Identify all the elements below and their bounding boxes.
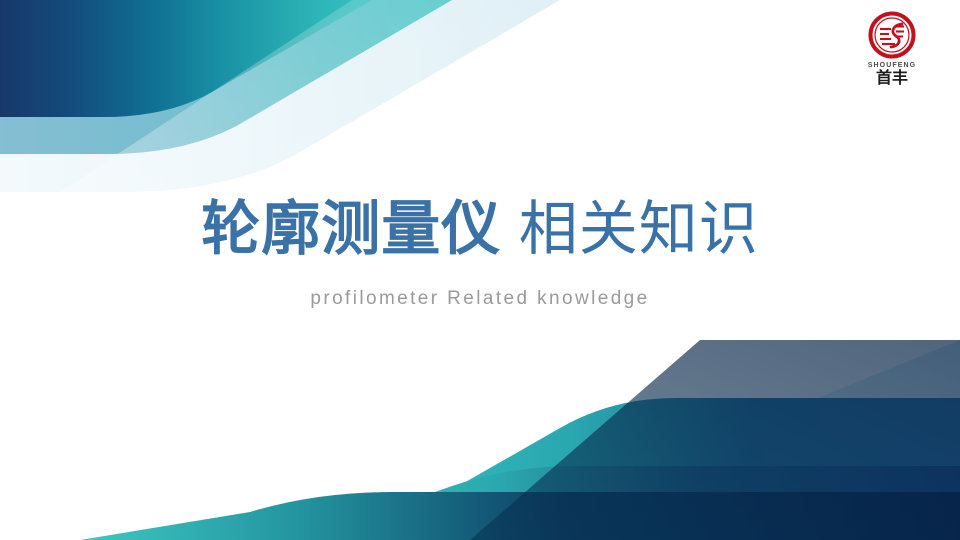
- top-diagonal-sheen: [60, 0, 560, 192]
- logo-latin-text: SHOUFENG: [846, 61, 938, 70]
- logo-chinese-text: 首丰: [846, 70, 938, 88]
- top-band-main: [0, 0, 372, 117]
- bottom-decoration-graphic: [0, 340, 960, 540]
- title-slide: SHOUFENG 首丰 轮廓测量仪 相关知识 profilometer Rela…: [0, 0, 960, 540]
- top-band-light: [0, 0, 452, 154]
- top-band-pale-sweep: [0, 0, 560, 192]
- bottom-band-deep: [80, 492, 960, 540]
- page-subtitle: profilometer Related knowledge: [0, 288, 960, 310]
- title-strong-part: 轮廓测量仪: [201, 196, 501, 262]
- page-title: 轮廓测量仪 相关知识: [0, 196, 960, 262]
- bottom-band-pale: [470, 340, 960, 540]
- title-light-part: 相关知识: [519, 196, 759, 262]
- bottom-band-mid: [364, 368, 960, 540]
- bottom-band-low: [300, 452, 960, 540]
- bottom-diagonal-shade: [470, 340, 960, 540]
- shoufeng-emblem-icon: [867, 10, 917, 60]
- company-logo: SHOUFENG 首丰: [846, 10, 938, 88]
- top-band-pale: [0, 0, 960, 190]
- top-band-main-block: [0, 0, 372, 117]
- title-block: 轮廓测量仪 相关知识 profilometer Related knowledg…: [0, 196, 960, 310]
- title-separator: [501, 196, 518, 262]
